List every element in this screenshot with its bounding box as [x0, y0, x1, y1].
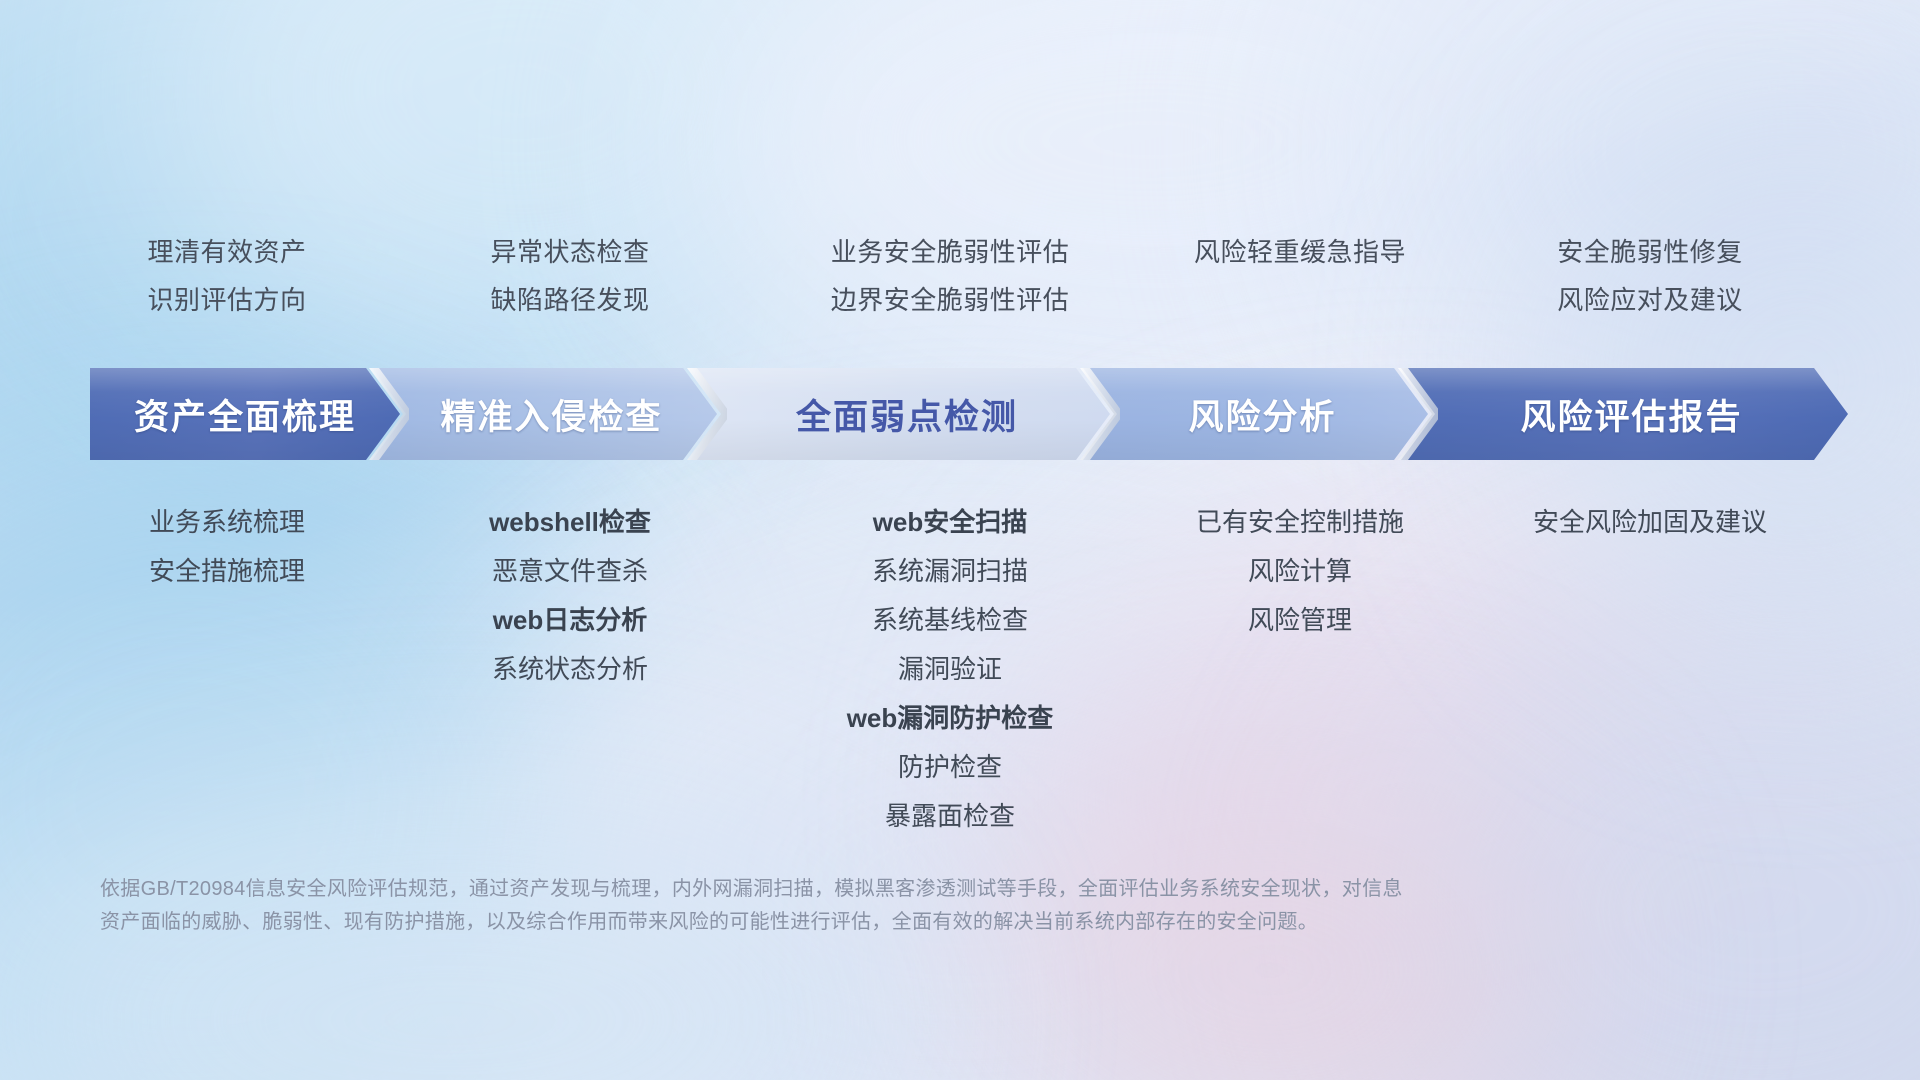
detail-item: 已有安全控制措施 [1196, 498, 1404, 547]
top-label-column: 理清有效资产识别评估方向 [62, 228, 392, 324]
footer-description: 依据GB/T20984信息安全风险评估规范，通过资产发现与梳理，内外网漏洞扫描，… [100, 873, 1660, 939]
detail-item: 安全风险加固及建议 [1533, 498, 1767, 547]
stage-arrow-2[interactable]: 精准入侵检查 [372, 368, 717, 460]
top-label: 风险轻重缓急指导 [1194, 228, 1406, 276]
detail-list-column: 安全风险加固及建议 [1460, 498, 1840, 547]
stage-arrow-5[interactable]: 风险评估报告 [1401, 368, 1848, 460]
stage-arrow-band: 资产全面梳理精准入侵检查全面弱点检测风险分析风险评估报告 [90, 368, 1848, 460]
footer-line-1: 依据GB/T20984信息安全风险评估规范，通过资产发现与梳理，内外网漏洞扫描，… [100, 873, 1660, 906]
detail-item: 风险计算 [1248, 547, 1352, 596]
detail-item: 恶意文件查杀 [492, 547, 648, 596]
top-label: 安全脆弱性修复 [1557, 228, 1743, 276]
stage-title: 精准入侵检查 [440, 389, 662, 440]
detail-item: webshell检查 [489, 498, 651, 547]
detail-item: 风险管理 [1248, 596, 1352, 645]
stage-title: 风险分析 [1188, 389, 1336, 440]
detail-list-column: 已有安全控制措施风险计算风险管理 [1135, 498, 1465, 645]
stage-arrow-1[interactable]: 资产全面梳理 [90, 368, 400, 460]
detail-item: 系统状态分析 [492, 645, 648, 694]
process-flow-diagram: 理清有效资产识别评估方向异常状态检查缺陷路径发现业务安全脆弱性评估边界安全脆弱性… [0, 0, 1920, 1080]
detail-item: web漏洞防护检查 [847, 694, 1054, 743]
stage-arrow-3[interactable]: 全面弱点检测 [690, 368, 1110, 460]
stage-arrow-4[interactable]: 风险分析 [1083, 368, 1428, 460]
detail-list-column: web安全扫描系统漏洞扫描系统基线检查漏洞验证web漏洞防护检查防护检查暴露面检… [740, 498, 1160, 841]
detail-item: 业务系统梳理 [149, 498, 305, 547]
top-label-column: 业务安全脆弱性评估边界安全脆弱性评估 [740, 228, 1160, 324]
top-label: 业务安全脆弱性评估 [831, 228, 1070, 276]
detail-item: 系统漏洞扫描 [872, 547, 1028, 596]
top-label-column: 安全脆弱性修复风险应对及建议 [1460, 228, 1840, 324]
detail-item: 系统基线检查 [872, 596, 1028, 645]
top-label: 理清有效资产 [147, 228, 306, 276]
top-label-column: 异常状态检查缺陷路径发现 [400, 228, 740, 324]
detail-item: 安全措施梳理 [149, 547, 305, 596]
detail-list-column: 业务系统梳理安全措施梳理 [62, 498, 392, 596]
top-label: 风险应对及建议 [1557, 276, 1743, 324]
detail-item: 漏洞验证 [898, 645, 1002, 694]
top-label: 异常状态检查 [490, 228, 649, 276]
stage-title: 全面弱点检测 [796, 389, 1018, 440]
footer-line-2: 资产面临的威胁、脆弱性、现有防护措施，以及综合作用而带来风险的可能性进行评估，全… [100, 906, 1660, 939]
stage-title: 风险评估报告 [1520, 389, 1742, 440]
detail-item: 暴露面检查 [885, 792, 1015, 841]
detail-item: web日志分析 [493, 596, 648, 645]
detail-item: 防护检查 [898, 743, 1002, 792]
top-label: 边界安全脆弱性评估 [831, 276, 1070, 324]
top-label-column: 风险轻重缓急指导 [1135, 228, 1465, 276]
stage-title: 资产全面梳理 [134, 389, 356, 440]
detail-item: web安全扫描 [873, 498, 1028, 547]
top-label: 识别评估方向 [147, 276, 306, 324]
top-label: 缺陷路径发现 [490, 276, 649, 324]
detail-list-column: webshell检查恶意文件查杀web日志分析系统状态分析 [400, 498, 740, 694]
